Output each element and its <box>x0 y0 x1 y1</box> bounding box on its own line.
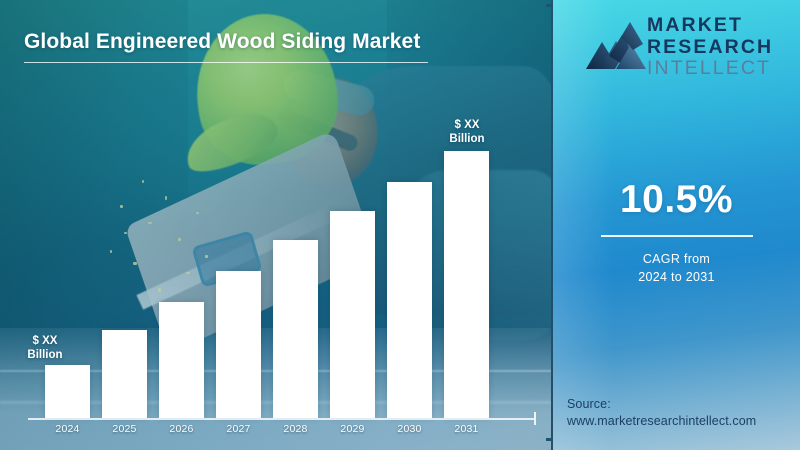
cagr-block: 10.5% CAGR from 2024 to 2031 <box>553 178 800 286</box>
bar-value-label-2031: $ XX Billion <box>421 118 513 146</box>
cagr-divider-rule <box>601 235 753 237</box>
cagr-caption-line1: CAGR from <box>553 250 800 268</box>
brand-logo-line-intellect: INTELLECT <box>647 57 797 79</box>
bar-2025[interactable] <box>102 330 147 418</box>
market-research-intellect-mountain-logo-icon <box>585 20 647 70</box>
bar-value-label-2031-line2: Billion <box>421 132 513 146</box>
bar-value-label-2024-line2: Billion <box>0 348 91 362</box>
x-axis-label-2025: 2025 <box>102 423 147 435</box>
brand-logo-line-research: RESEARCH <box>647 36 797 58</box>
bar-2028[interactable] <box>273 240 318 418</box>
bar-value-label-2024: $ XX Billion <box>0 334 91 362</box>
x-axis-label-2031: 2031 <box>444 423 489 435</box>
market-research-infographic: Global Engineered Wood Siding Market $ X… <box>0 0 800 450</box>
brand-logo-wordmark: MARKET RESEARCH INTELLECT <box>647 14 797 79</box>
source-label: Source: <box>567 396 799 413</box>
x-axis-label-2026: 2026 <box>159 423 204 435</box>
bar-2030[interactable] <box>387 182 432 418</box>
brand-logo[interactable]: MARKET RESEARCH INTELLECT <box>565 8 797 80</box>
cagr-value: 10.5% <box>553 178 800 222</box>
bar-2026[interactable] <box>159 302 204 418</box>
source-url[interactable]: www.marketresearchintellect.com <box>567 413 799 430</box>
bar-2027[interactable] <box>216 271 261 418</box>
cagr-caption: CAGR from 2024 to 2031 <box>553 250 800 286</box>
source-block: Source: www.marketresearchintellect.com <box>567 396 799 430</box>
x-axis-end-tick <box>534 412 536 425</box>
bar-2024[interactable] <box>45 365 90 418</box>
x-axis-label-2029: 2029 <box>330 423 375 435</box>
x-axis-label-2024: 2024 <box>45 423 90 435</box>
bar-value-label-2031-line1: $ XX <box>421 118 513 132</box>
x-axis-line <box>28 418 535 420</box>
bar-chart: $ XX Billion $ XX Billion 2024 2025 2026… <box>0 0 553 450</box>
bar-value-label-2024-line1: $ XX <box>0 334 91 348</box>
cagr-caption-line2: 2024 to 2031 <box>553 268 800 286</box>
bar-2029[interactable] <box>330 211 375 418</box>
right-panel: MARKET RESEARCH INTELLECT 10.5% CAGR fro… <box>553 0 800 450</box>
x-axis-label-2028: 2028 <box>273 423 318 435</box>
x-axis-label-2027: 2027 <box>216 423 261 435</box>
x-axis-label-2030: 2030 <box>387 423 432 435</box>
bar-2031[interactable] <box>444 151 489 418</box>
brand-logo-line-market: MARKET <box>647 14 797 36</box>
